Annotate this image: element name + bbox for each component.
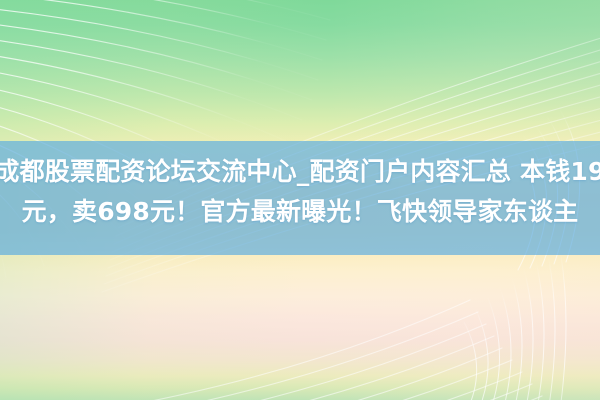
- banner-image: 成都股票配资论坛交流中心_配资门户内容汇总 本钱19元，卖698元！官方最新曝光…: [0, 0, 600, 400]
- headline-text: 成都股票配资论坛交流中心_配资门户内容汇总 本钱19元，卖698元！官方最新曝光…: [0, 152, 600, 232]
